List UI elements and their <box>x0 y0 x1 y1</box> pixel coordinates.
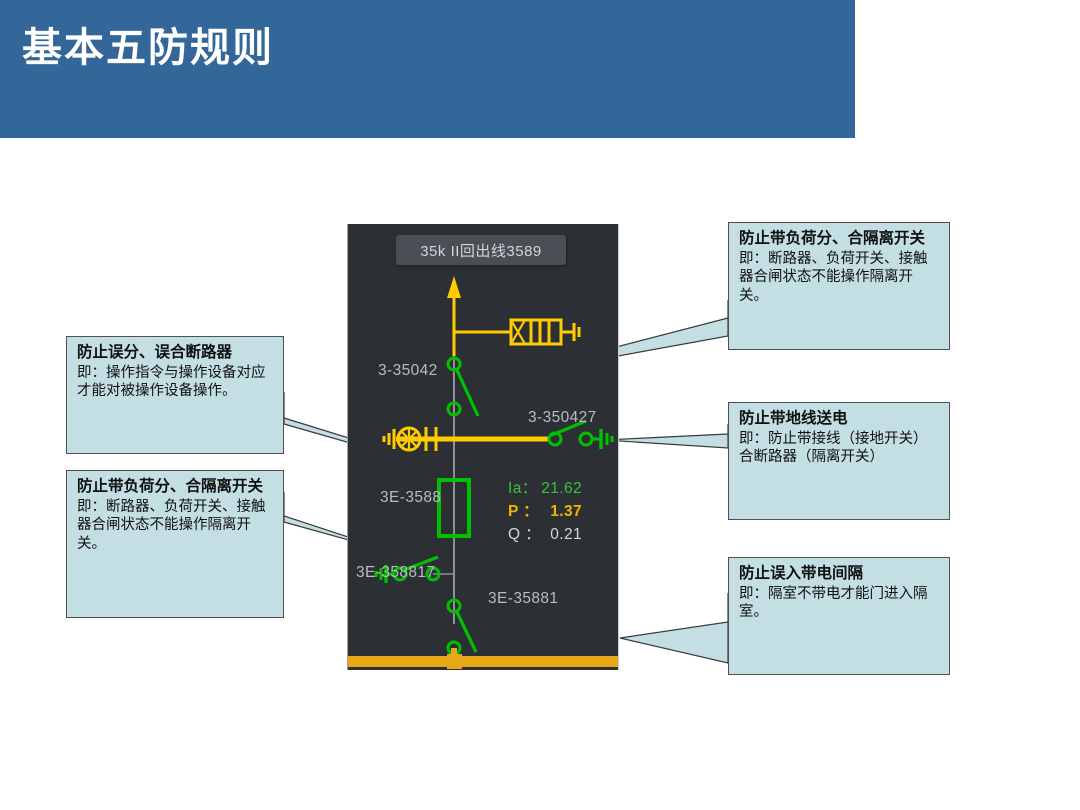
callout-prevent-load-switching-right: 防止带负荷分、合隔离开关 即：断路器、负荷开关、接触器合闸状态不能操作隔离开关。 <box>728 222 950 350</box>
label-breaker-3E-3588: 3E-3588 <box>380 489 441 507</box>
callout-prevent-energizing-with-ground: 防止带地线送电 即：防止带接线（接地开关）合断路器（隔离开关） <box>728 402 950 520</box>
callout-title: 防止误分、误合断路器 <box>77 344 274 363</box>
pointer-enter-bay <box>620 593 728 663</box>
callout-title: 防止带负荷分、合隔离开关 <box>77 478 274 497</box>
measurement-current: Ia：21.62 <box>508 476 582 498</box>
disconnector-3E-35881-icon[interactable] <box>448 600 476 654</box>
busbar <box>348 656 619 667</box>
feeder-arrow-icon <box>447 276 461 356</box>
callout-body: 即：隔室不带电才能门进入隔室。 <box>739 585 940 622</box>
measurement-value: 0.21 <box>534 526 582 544</box>
callout-prevent-mis-operation: 防止误分、误合断路器 即：操作指令与操作设备对应才能对被操作设备操作。 <box>66 336 284 454</box>
label-earth-switch-3-350427: 3-350427 <box>528 409 597 427</box>
busbar-junction <box>447 654 462 669</box>
callout-body: 即：防止带接线（接地开关）合断路器（隔离开关） <box>739 430 940 467</box>
measurement-value: 21.62 <box>534 480 582 498</box>
pt-measuring-branch <box>384 427 548 451</box>
measurement-key: Q ： <box>508 522 534 544</box>
measurement-key: Ia： <box>508 476 534 498</box>
pt-fuse-branch <box>454 320 579 344</box>
label-disconnector-3E-35881: 3E-35881 <box>488 590 558 608</box>
callout-title: 防止带负荷分、合隔离开关 <box>739 230 940 249</box>
bay-title-text: 35k II回出线3589 <box>420 240 542 261</box>
measurement-active-power: P ：1.37 <box>508 499 582 521</box>
disconnector-3-35042-icon[interactable] <box>448 358 478 416</box>
label-earth-switch-3E-358817: 3E-358817 <box>356 564 435 582</box>
callout-prevent-entering-live-bay: 防止误入带电间隔 即：隔室不带电才能门进入隔室。 <box>728 557 950 675</box>
callout-title: 防止误入带电间隔 <box>739 565 940 584</box>
single-line-diagram-svg <box>348 224 619 670</box>
callout-body: 即：断路器、负荷开关、接触器合闸状态不能操作隔离开关。 <box>739 250 940 306</box>
measurement-key: P ： <box>508 499 534 521</box>
callout-title: 防止带地线送电 <box>739 410 940 429</box>
callout-prevent-load-switching-left: 防止带负荷分、合隔离开关 即：断路器、负荷开关、接触器合闸状态不能操作隔离开关。 <box>66 470 284 618</box>
callout-body: 即：操作指令与操作设备对应才能对被操作设备操作。 <box>77 364 274 401</box>
pointer-ground <box>604 424 728 448</box>
measurement-reactive-power: Q ：0.21 <box>508 522 582 544</box>
single-line-diagram-panel[interactable]: 35k II回出线3589 3-35042 3-350427 3E-3588 3… <box>347 224 619 670</box>
measurement-value: 1.37 <box>534 503 582 521</box>
bay-title-label: 35k II回出线3589 <box>396 235 566 265</box>
callout-body: 即：断路器、负荷开关、接触器合闸状态不能操作隔离开关。 <box>77 498 274 554</box>
label-disconnector-3-35042: 3-35042 <box>378 362 438 380</box>
